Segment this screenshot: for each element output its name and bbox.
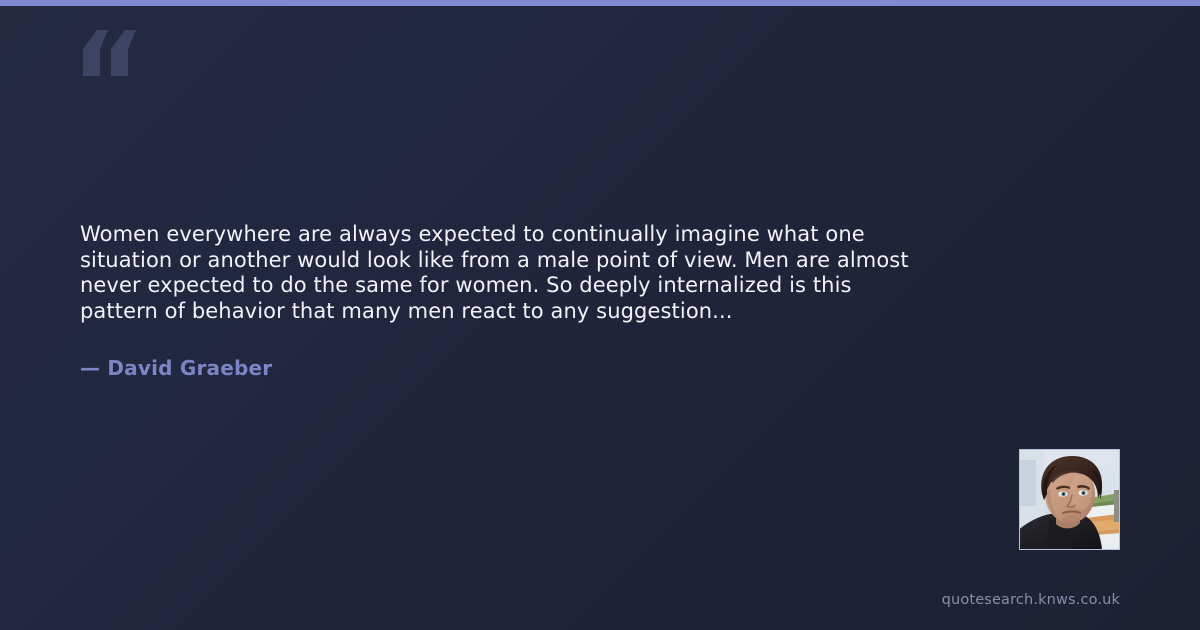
open-quote-icon	[80, 30, 150, 90]
top-accent-bar	[0, 0, 1200, 6]
source-url: quotesearch.knws.co.uk	[942, 591, 1120, 609]
author-name: — David Graeber	[80, 355, 272, 381]
quote-body: Women everywhere are always expected to …	[80, 222, 1000, 324]
quote-card: Women everywhere are always expected to …	[0, 0, 1200, 630]
author-avatar	[1019, 449, 1120, 550]
quote-attribution: — David Graeber	[80, 355, 272, 381]
quote-text: Women everywhere are always expected to …	[80, 222, 1000, 324]
